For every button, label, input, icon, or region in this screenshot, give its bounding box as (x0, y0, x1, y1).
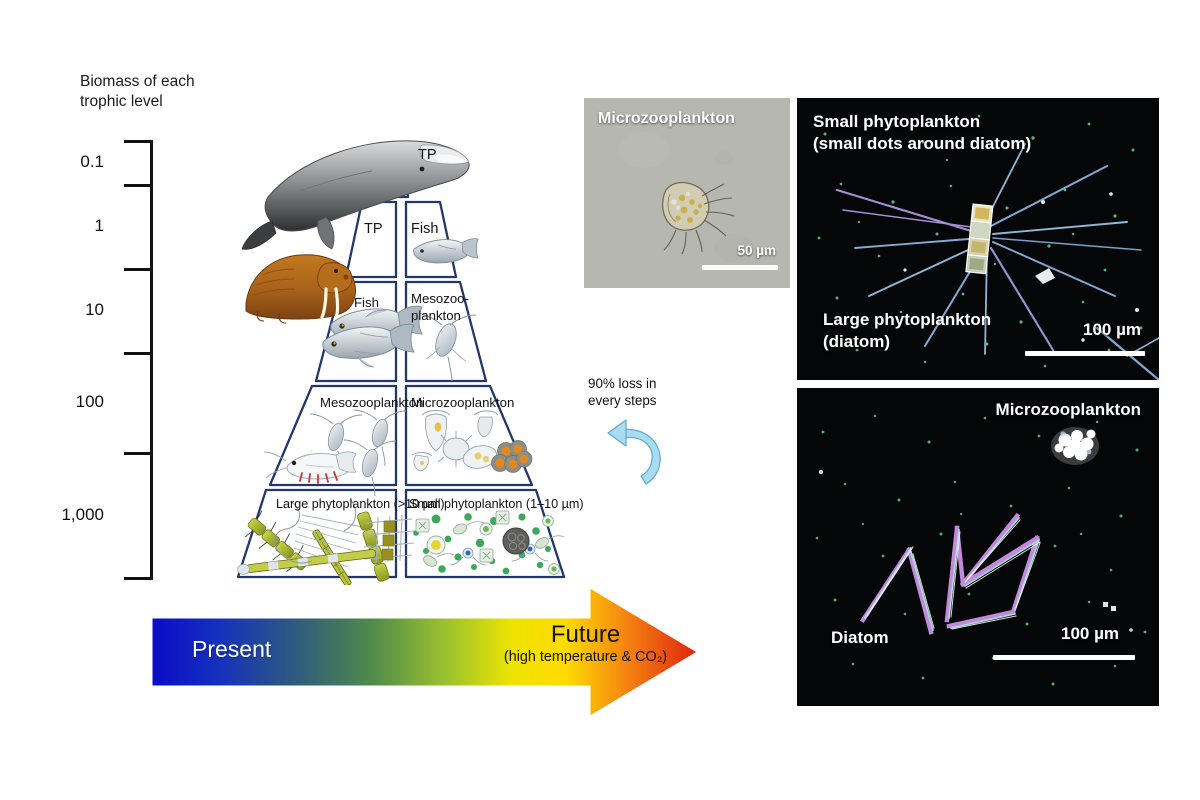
axis-tick-1 (124, 184, 152, 187)
axis-tick-4 (124, 452, 152, 455)
caption-small-phytoplankton-line1: Small phytoplankton (813, 112, 980, 132)
axis-label-0: 0.1 (80, 152, 104, 172)
axis-title: Biomass of each trophic level (80, 72, 270, 112)
future-label-group: Future (high temperature & CO₂) (478, 622, 693, 666)
tier-label-mesozoo-right-line2: plankton (411, 308, 461, 323)
axis-label-1: 1 (95, 216, 104, 236)
tier-label-mesozoo-right-line1: Mesozoo- (411, 291, 469, 306)
caption-large-phytoplankton-line2: (diatom) (823, 332, 890, 352)
caption-small-phytoplankton-line2: (small dots around diatom) (813, 134, 1031, 154)
tier-label-fish-right: Fish (411, 221, 438, 238)
future-sublabel: (high temperature & CO₂) (478, 649, 693, 666)
tier-label-tp-left: TP (364, 221, 383, 238)
scalebar-label-50um: 50 µm (737, 243, 776, 258)
loss-note: 90% loss in every steps (588, 375, 708, 410)
loss-note-line2: every steps (588, 392, 708, 409)
microzooplankton-cluster (1051, 427, 1099, 465)
axis-title-line2: trophic level (80, 92, 270, 112)
caption-diatom-bottom: Diatom (831, 628, 889, 648)
micrograph-caption-microzooplankton: Microzooplankton (598, 110, 735, 129)
scalebar-100um-top (1025, 351, 1145, 356)
tier-label-mesozooplankton-left: Mesozooplankton (320, 395, 423, 410)
trophic-pyramid: TP TP Fish Fish Mesozoo- plankton Mesozo… (150, 125, 650, 585)
micrograph-diatom-darkfield: Microzooplankton Diatom 100 µm (797, 388, 1159, 706)
scalebar-label-100um-top: 100 µm (1083, 320, 1141, 340)
caption-microzooplankton-bottom: Microzooplankton (996, 400, 1141, 420)
micrograph-phytoplankton-darkfield: Small phytoplankton (small dots around d… (797, 98, 1159, 380)
scalebar-50um (702, 265, 778, 270)
axis-label-2: 10 (85, 300, 104, 320)
tier-label-microzooplankton-right: Microzooplankton (411, 395, 514, 410)
caption-large-phytoplankton-line1: Large phytoplankton (823, 310, 991, 330)
axis-tick-0 (124, 140, 152, 143)
scalebar-label-100um-bottom: 100 µm (1061, 624, 1119, 644)
axis-label-4: 1,000 (61, 505, 104, 525)
walrus-illustration (246, 255, 356, 323)
present-label: Present (192, 636, 271, 663)
tier-label-fish-left: Fish (354, 295, 379, 310)
loss-note-line1: 90% loss in (588, 375, 708, 392)
axis-tick-3 (124, 352, 152, 355)
future-label: Future (478, 622, 693, 647)
tier-label-small-phytoplankton: Small phytoplankton (1–10 µm) (409, 497, 584, 511)
tier-label-apex-tp: TP (418, 147, 437, 164)
axis-tick-5 (124, 577, 152, 580)
scalebar-100um-bottom (993, 655, 1135, 660)
axis-tick-2 (124, 268, 152, 271)
loss-curved-arrow (600, 412, 680, 492)
figure-canvas: Biomass of each trophic level 0.1 1 10 1… (0, 0, 1200, 800)
micrograph-microzooplankton: Microzooplankton 50 µm (584, 98, 790, 288)
axis-label-3: 100 (76, 392, 104, 412)
axis-title-line1: Biomass of each (80, 72, 270, 92)
